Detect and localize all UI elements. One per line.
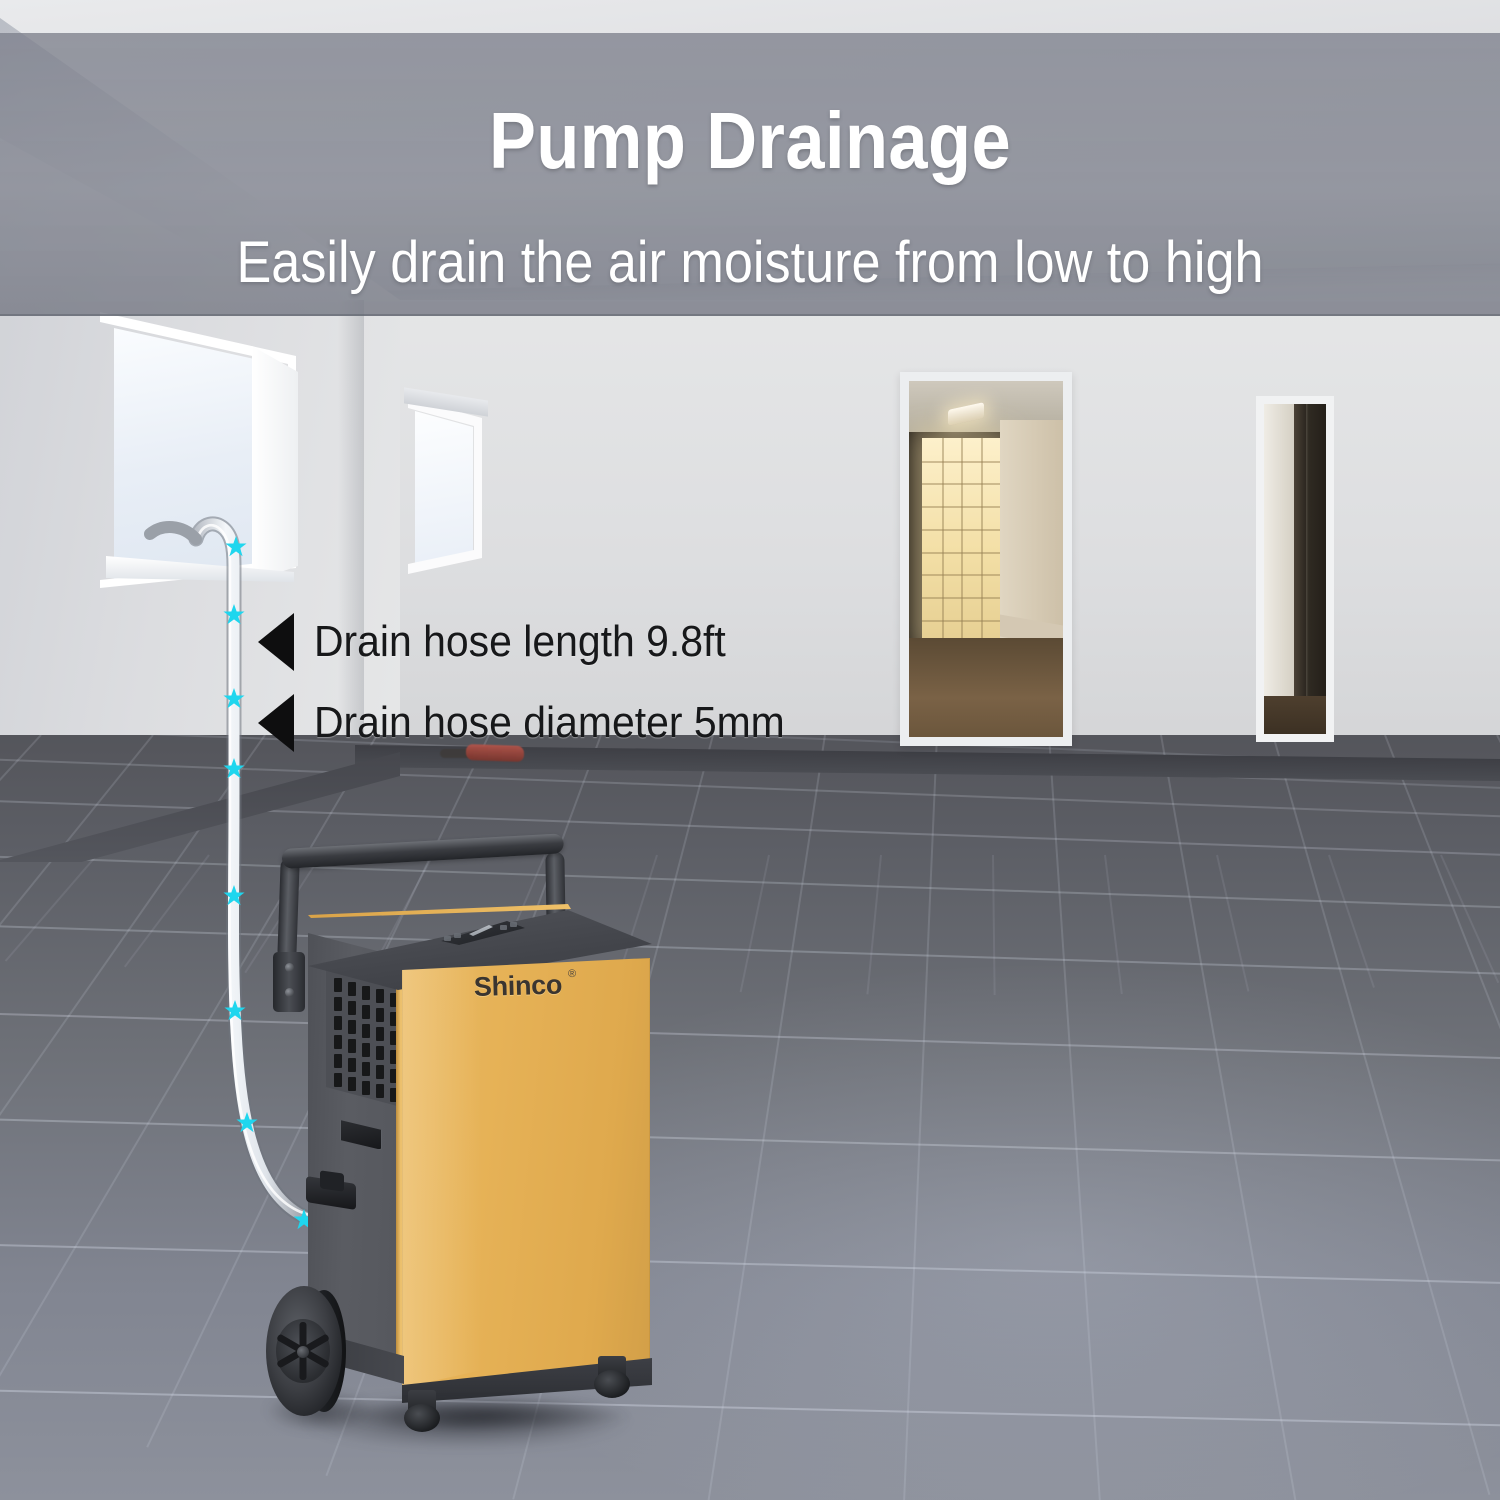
unit-front-sheen [402,958,482,1388]
wheel-cap [297,1346,309,1358]
left-triangle-icon [258,613,294,671]
vent-slot [348,1020,356,1034]
handle-post-left [277,858,300,961]
control-button-2[interactable] [454,933,461,938]
vent-slot [362,1024,370,1038]
vent-slot [334,1054,342,1068]
handle-bracket [273,952,305,1012]
vent-slot [334,1073,342,1087]
vent-slot [362,1062,370,1076]
control-button-4[interactable] [510,922,517,927]
vent-slot [334,1016,342,1030]
control-button-1[interactable] [444,936,451,941]
vent-slot [362,1005,370,1019]
vent-slot [348,1039,356,1053]
page-title: Pump Drainage [90,95,1410,187]
vent-slot [376,1046,384,1060]
control-button-3[interactable] [500,925,507,930]
callout-drain-hose-diameter: Drain hose diameter 5mm [258,694,820,752]
vent-slot [376,1065,384,1079]
header-banner: Pump Drainage Easily drain the air moist… [0,33,1500,316]
callout-label: Drain hose length 9.8ft [314,617,726,667]
handle-bolt-2 [285,988,294,997]
tile-floor [0,735,1500,1500]
drain-hose-fitting-cap [320,1170,344,1191]
vent-slot [334,997,342,1011]
vent-slot [376,1027,384,1041]
brand-logo: Shinco [473,969,594,1012]
vent-slot [362,1081,370,1095]
vent-slot [334,978,342,992]
vent-slot [362,1043,370,1057]
vent-slot [376,1084,384,1098]
caster-wheel [404,1404,440,1432]
vent-slot [348,1058,356,1072]
hallway-door-frame [900,372,1072,746]
vent-slot [348,1077,356,1091]
right-door-frame [1256,396,1334,742]
front-swivel-caster-left [404,1390,440,1432]
front-swivel-caster-right [594,1356,630,1398]
rear-transport-wheel [266,1286,354,1416]
floor-sheen [0,735,1500,1500]
left-triangle-icon [258,694,294,752]
page-subtitle: Easily drain the air moisture from low t… [75,229,1425,296]
vent-slot [348,1001,356,1015]
caster-wheel [594,1370,630,1398]
product-marketing-image: Pump Drainage Easily drain the air moist… [0,0,1500,1500]
vent-slot [376,1008,384,1022]
callout-drain-hose-length: Drain hose length 9.8ft [258,613,757,671]
side-air-vent [326,968,405,1108]
trademark-icon: ® [568,968,576,980]
callout-label: Drain hose diameter 5mm [314,698,785,748]
vent-slot [362,986,370,1000]
vent-slot [334,1035,342,1049]
vent-slot [376,989,384,1003]
vent-slot [348,982,356,996]
window-small-glass [415,405,473,565]
handle-bolt-1 [285,963,294,972]
